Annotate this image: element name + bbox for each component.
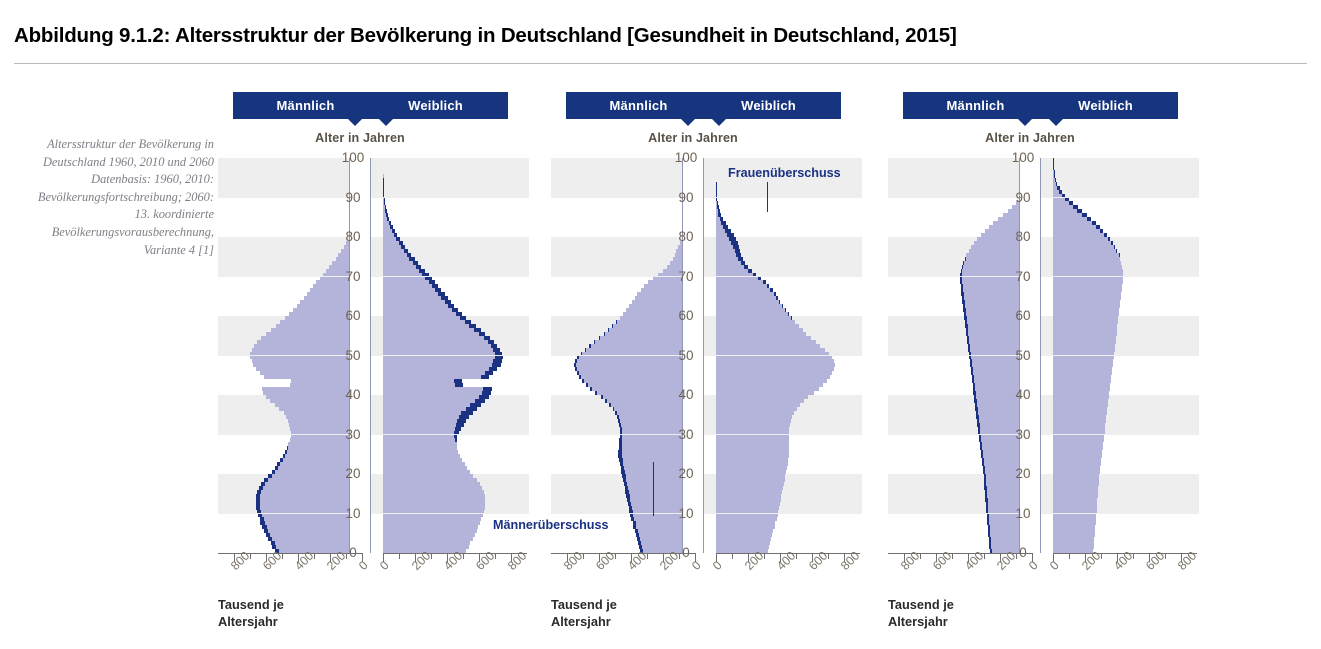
surplus-female-age-82 <box>390 225 393 229</box>
bar-female-age-57 <box>716 324 799 328</box>
unit-line-1: Tausend je <box>888 596 1048 613</box>
surplus-female-age-75 <box>407 253 412 257</box>
bar-female-age-63 <box>383 300 445 304</box>
annotation-leader-frauenueberschuss <box>767 182 768 212</box>
age-tick-20: 20 <box>668 467 704 481</box>
badge-male[interactable]: Männlich <box>903 92 1048 119</box>
surplus-male-age-13 <box>627 498 630 502</box>
surplus-male-age-66 <box>961 288 963 292</box>
bar-female-age-60 <box>1053 312 1119 316</box>
bar-female-age-64 <box>1053 296 1121 300</box>
bar-female-age-42 <box>1053 383 1110 387</box>
bar-female-age-15 <box>1053 490 1098 494</box>
age-axis-labels: 0102030405060708090100 <box>1005 158 1041 553</box>
surplus-male-age-39 <box>974 395 976 399</box>
tick-female-100 <box>399 553 400 559</box>
surplus-female-age-61 <box>452 308 458 312</box>
surplus-male-age-25 <box>981 450 983 454</box>
bar-female-age-31 <box>716 427 789 431</box>
bar-female-age-80 <box>383 233 394 237</box>
bar-female-age-37 <box>1053 403 1108 407</box>
bar-female-age-57 <box>1053 324 1117 328</box>
bar-female-age-31 <box>1053 427 1105 431</box>
pyramid-panel-2010: MännlichWeiblichAlter in Jahren010203040… <box>518 0 868 649</box>
surplus-male-age-11 <box>256 506 260 510</box>
surplus-male-age-5 <box>635 529 638 533</box>
bar-female-age-73 <box>716 261 741 265</box>
bar-female-age-55 <box>383 332 479 336</box>
surplus-female-age-81 <box>392 229 395 233</box>
surplus-female-age-76 <box>1116 249 1117 253</box>
pyramid-panel-2060: MännlichWeiblichAlter in Jahren010203040… <box>855 0 1205 649</box>
surplus-male-age-40 <box>595 391 597 395</box>
age-tick-50: 50 <box>668 349 704 363</box>
surplus-female-age-53 <box>488 340 494 344</box>
bar-female-age-23 <box>1053 458 1101 462</box>
bar-female-age-67 <box>1053 284 1122 288</box>
surplus-male-age-8 <box>260 517 264 521</box>
age-tick-10: 10 <box>668 507 704 521</box>
figure-page: Abbildung 9.1.2: Altersstruktur der Bevö… <box>0 0 1321 649</box>
surplus-male-age-58 <box>965 320 967 324</box>
bar-female-age-80 <box>716 233 727 237</box>
bar-female-age-54 <box>716 336 811 340</box>
bar-female-age-78 <box>383 241 399 245</box>
surplus-male-age-69 <box>960 277 962 281</box>
surplus-male-age-47 <box>574 363 576 367</box>
surplus-male-age-9 <box>258 514 262 518</box>
bar-female-age-71 <box>716 269 748 273</box>
age-tick-10: 10 <box>1005 507 1041 521</box>
surplus-female-age-84 <box>1087 217 1091 221</box>
bar-female-age-74 <box>716 257 738 261</box>
bar-female-age-28 <box>1053 438 1104 442</box>
surplus-male-age-72 <box>962 265 963 269</box>
surplus-male-age-14 <box>985 494 987 498</box>
surplus-male-age-19 <box>984 474 986 478</box>
bar-female-age-26 <box>1053 446 1103 450</box>
bar-female-age-56 <box>716 328 803 332</box>
bar-female-age-74 <box>383 257 409 261</box>
surplus-male-age-17 <box>984 482 986 486</box>
bars-female <box>716 158 860 553</box>
surplus-male-age-26 <box>619 446 622 450</box>
surplus-male-age-10 <box>257 510 261 514</box>
bar-female-age-68 <box>716 280 763 284</box>
bar-female-age-62 <box>383 304 448 308</box>
surplus-male-age-22 <box>620 462 624 466</box>
badge-male[interactable]: Männlich <box>566 92 711 119</box>
bar-female-age-6 <box>383 525 478 529</box>
surplus-female-age-38 <box>475 399 485 403</box>
surplus-female-age-61 <box>785 308 786 312</box>
surplus-male-age-35 <box>615 411 617 415</box>
surplus-male-age-6 <box>988 525 990 529</box>
bar-female-age-30 <box>1053 431 1105 435</box>
bar-female-age-22 <box>383 462 465 466</box>
bar-female-age-42 <box>716 383 823 387</box>
bar-female-age-53 <box>383 340 488 344</box>
surplus-female-age-83 <box>721 221 726 225</box>
surplus-male-age-51 <box>968 348 970 352</box>
value-axis-unit: Tausend jeAltersjahr <box>888 596 1048 630</box>
bar-female-age-76 <box>1053 249 1116 253</box>
bar-female-age-18 <box>383 478 477 482</box>
unit-line-2: Altersjahr <box>551 613 711 630</box>
bar-female-age-18 <box>716 478 785 482</box>
surplus-male-age-20 <box>621 470 625 474</box>
age-tick-90: 90 <box>668 191 704 205</box>
surplus-female-age-76 <box>404 249 408 253</box>
bar-female-age-75 <box>1053 253 1119 257</box>
bar-female-age-19 <box>716 474 785 478</box>
bar-female-age-43 <box>1053 379 1111 383</box>
surplus-male-age-18 <box>264 478 268 482</box>
bar-female-age-9 <box>1053 514 1096 518</box>
surplus-female-age-77 <box>1114 245 1115 249</box>
bar-female-age-20 <box>383 470 470 474</box>
bar-female-age-21 <box>1053 466 1100 470</box>
surplus-female-age-64 <box>776 296 778 300</box>
bar-female-age-52 <box>716 344 820 348</box>
bar-female-age-36 <box>1053 407 1107 411</box>
surplus-female-age-87 <box>717 205 719 209</box>
surplus-female-age-67 <box>767 284 770 288</box>
surplus-male-age-71 <box>961 269 962 273</box>
bar-female-age-72 <box>1053 265 1122 269</box>
bar-female-age-38 <box>383 399 475 403</box>
surplus-male-age-61 <box>963 308 965 312</box>
surplus-male-age-52 <box>589 344 590 348</box>
surplus-male-age-22 <box>982 462 984 466</box>
bar-female-age-53 <box>1053 340 1116 344</box>
surplus-female-age-30 <box>454 431 459 435</box>
bar-female-age-55 <box>716 332 806 336</box>
bar-female-age-54 <box>383 336 484 340</box>
surplus-female-age-90 <box>1062 194 1066 198</box>
surplus-male-age-8 <box>987 517 989 521</box>
bar-female-age-7 <box>1053 521 1096 525</box>
surplus-female-age-73 <box>413 261 418 265</box>
bar-female-age-75 <box>716 253 736 257</box>
value-label-male-0: 0 <box>1026 558 1041 573</box>
surplus-female-age-29 <box>454 435 457 439</box>
surplus-male-age-16 <box>984 486 986 490</box>
surplus-female-age-33 <box>457 419 466 423</box>
bar-female-age-61 <box>716 308 785 312</box>
bar-female-age-62 <box>716 304 782 308</box>
surplus-male-age-38 <box>974 399 976 403</box>
surplus-male-age-18 <box>623 478 626 482</box>
bar-female-age-77 <box>383 245 401 249</box>
bar-female-age-28 <box>383 438 455 442</box>
badge-female[interactable]: Weiblich <box>363 92 508 119</box>
age-tick-70: 70 <box>335 270 371 284</box>
surplus-female-age-94 <box>1055 178 1056 182</box>
age-tick-80: 80 <box>668 230 704 244</box>
badge-female[interactable]: Weiblich <box>1033 92 1178 119</box>
surplus-male-age-6 <box>262 525 267 529</box>
bar-female-age-84 <box>1053 217 1087 221</box>
bar-female-age-69 <box>1053 277 1123 281</box>
surplus-male-age-54 <box>599 336 600 340</box>
bar-female-age-29 <box>716 435 789 439</box>
surplus-male-age-43 <box>582 379 584 383</box>
age-tick-100: 100 <box>668 151 704 165</box>
age-axis-title: Alter in Jahren <box>855 131 1205 145</box>
surplus-male-age-10 <box>986 510 988 514</box>
surplus-male-age-5 <box>264 529 269 533</box>
bar-female-age-29 <box>1053 435 1104 439</box>
bar-female-age-27 <box>716 442 789 446</box>
surplus-female-age-82 <box>723 225 728 229</box>
surplus-male-age-42 <box>586 383 588 387</box>
surplus-male-age-24 <box>283 454 285 458</box>
surplus-female-age-69 <box>425 277 431 281</box>
surplus-female-age-80 <box>727 233 734 237</box>
surplus-male-age-44 <box>579 375 581 379</box>
surplus-female-age-75 <box>736 253 741 257</box>
surplus-male-age-34 <box>976 415 978 419</box>
surplus-male-age-15 <box>257 490 261 494</box>
age-axis-labels: 0102030405060708090100 <box>335 158 371 553</box>
surplus-male-age-52 <box>968 344 970 348</box>
surplus-female-age-47 <box>492 363 501 367</box>
bar-female-age-71 <box>383 269 419 273</box>
surplus-female-age-48 <box>493 359 502 363</box>
bar-female-age-54 <box>1053 336 1116 340</box>
bar-female-age-18 <box>1053 478 1099 482</box>
surplus-female-age-43 <box>454 379 462 383</box>
surplus-female-age-77 <box>401 245 405 249</box>
bar-female-age-88 <box>1053 201 1069 205</box>
bar-female-age-65 <box>383 292 438 296</box>
bar-female-age-22 <box>1053 462 1101 466</box>
surplus-male-age-2 <box>638 541 641 545</box>
age-tick-50: 50 <box>335 349 371 363</box>
surplus-female-age-36 <box>466 407 477 411</box>
surplus-male-age-31 <box>978 427 980 431</box>
bar-female-age-39 <box>716 395 808 399</box>
badge-male[interactable]: Männlich <box>233 92 378 119</box>
bar-female-age-40 <box>1053 391 1109 395</box>
bar-female-age-48 <box>383 359 493 363</box>
bar-female-age-39 <box>1053 395 1109 399</box>
bar-female-age-50 <box>1053 352 1114 356</box>
bar-female-age-1 <box>1053 545 1094 549</box>
surplus-male-age-11 <box>986 506 988 510</box>
surplus-female-age-66 <box>770 288 772 292</box>
surplus-female-age-84 <box>720 217 724 221</box>
bar-female-age-44 <box>1053 375 1111 379</box>
surplus-male-age-15 <box>985 490 987 494</box>
bar-female-age-25 <box>1053 450 1102 454</box>
badge-female[interactable]: Weiblich <box>696 92 841 119</box>
unit-line-2: Altersjahr <box>888 613 1048 630</box>
bar-female-age-8 <box>383 517 481 521</box>
surplus-male-age-34 <box>617 415 619 419</box>
surplus-female-age-40 <box>482 391 491 395</box>
bar-female-age-58 <box>716 320 795 324</box>
bar-female-age-6 <box>1053 525 1095 529</box>
surplus-female-age-83 <box>1092 221 1096 225</box>
bar-female-age-73 <box>383 261 413 265</box>
surplus-male-age-30 <box>620 431 623 435</box>
surplus-female-age-46 <box>489 367 498 371</box>
bar-female-age-71 <box>1053 269 1123 273</box>
bar-female-age-43 <box>383 379 454 383</box>
surplus-female-age-67 <box>432 284 438 288</box>
surplus-male-age-37 <box>975 403 977 407</box>
age-tick-70: 70 <box>668 270 704 284</box>
bar-female-age-29 <box>383 435 454 439</box>
bar-female-age-28 <box>716 438 789 442</box>
bar-female-age-49 <box>383 356 495 360</box>
bar-female-age-47 <box>716 363 835 367</box>
bar-female-age-20 <box>1053 470 1100 474</box>
surplus-male-age-49 <box>969 356 971 360</box>
surplus-male-age-41 <box>973 387 975 391</box>
bar-female-age-46 <box>1053 367 1112 371</box>
surplus-male-age-17 <box>624 482 627 486</box>
unit-line-1: Tausend je <box>218 596 378 613</box>
surplus-female-age-71 <box>748 269 752 273</box>
bar-female-age-11 <box>716 506 779 510</box>
bar-female-age-44 <box>383 375 481 379</box>
bar-female-age-63 <box>716 300 779 304</box>
bar-female-age-26 <box>716 446 789 450</box>
surplus-male-age-33 <box>618 419 620 423</box>
surplus-male-age-68 <box>960 280 962 284</box>
surplus-female-age-54 <box>484 336 490 340</box>
bar-female-age-13 <box>383 498 485 502</box>
surplus-female-age-89 <box>716 198 717 202</box>
bar-female-age-23 <box>383 458 462 462</box>
surplus-male-age-59 <box>964 316 966 320</box>
surplus-female-age-80 <box>394 233 398 237</box>
bar-female-age-68 <box>1053 280 1123 284</box>
surplus-male-age-45 <box>971 371 973 375</box>
bar-female-age-45 <box>383 371 485 375</box>
surplus-male-age-6 <box>633 525 636 529</box>
bar-female-age-64 <box>383 296 441 300</box>
bar-female-age-74 <box>1053 257 1120 261</box>
surplus-male-age-39 <box>601 395 603 399</box>
age-tick-70: 70 <box>1005 270 1041 284</box>
surplus-female-age-59 <box>460 316 466 320</box>
bar-female-age-51 <box>1053 348 1115 352</box>
bar-female-age-25 <box>716 450 789 454</box>
age-tick-50: 50 <box>1005 349 1041 363</box>
surplus-female-age-80 <box>1104 233 1107 237</box>
bar-female-age-5 <box>716 529 773 533</box>
age-tick-30: 30 <box>335 428 371 442</box>
surplus-male-age-22 <box>277 462 280 466</box>
bar-female-age-17 <box>383 482 480 486</box>
surplus-female-age-81 <box>725 229 731 233</box>
bar-female-age-73 <box>1053 261 1121 265</box>
surplus-female-age-92 <box>1057 186 1059 190</box>
unit-line-2: Altersjahr <box>218 613 378 630</box>
bar-female-age-35 <box>1053 411 1107 415</box>
surplus-female-age-37 <box>470 403 481 407</box>
bar-female-age-72 <box>716 265 744 269</box>
surplus-male-age-29 <box>620 435 623 439</box>
surplus-male-age-3 <box>989 537 991 541</box>
surplus-female-age-32 <box>456 423 464 427</box>
surplus-male-age-51 <box>585 348 586 352</box>
bar-female-age-79 <box>1053 237 1108 241</box>
surplus-male-age-7 <box>260 521 265 525</box>
bar-female-age-59 <box>383 316 460 320</box>
bar-female-age-39 <box>383 395 479 399</box>
bar-female-age-2 <box>716 541 770 545</box>
surplus-male-age-28 <box>979 438 981 442</box>
bar-female-age-66 <box>383 288 435 292</box>
bar-female-age-17 <box>716 482 784 486</box>
age-tick-10: 10 <box>335 507 371 521</box>
surplus-female-age-51 <box>493 348 499 352</box>
bar-female-age-78 <box>716 241 731 245</box>
bar-female-age-78 <box>1053 241 1111 245</box>
bar-female-age-42 <box>383 383 455 387</box>
bar-female-age-37 <box>716 403 800 407</box>
bar-female-age-8 <box>716 517 777 521</box>
bar-female-age-10 <box>1053 510 1097 514</box>
bar-female-age-79 <box>716 237 729 241</box>
surplus-male-age-21 <box>621 466 625 470</box>
surplus-female-age-52 <box>491 344 497 348</box>
age-tick-90: 90 <box>335 191 371 205</box>
surplus-female-age-77 <box>733 245 739 249</box>
surplus-female-age-79 <box>1108 237 1110 241</box>
surplus-female-age-71 <box>419 269 425 273</box>
surplus-male-age-47 <box>970 363 972 367</box>
surplus-female-age-63 <box>445 300 451 304</box>
bar-female-age-75 <box>383 253 407 257</box>
bar-female-age-51 <box>716 348 825 352</box>
bar-female-age-64 <box>716 296 776 300</box>
surplus-female-age-72 <box>744 265 748 269</box>
surplus-female-age-95 <box>1054 174 1055 178</box>
pyramid-panel-1960: MännlichWeiblichAlter in Jahren010203040… <box>185 0 535 649</box>
bar-female-age-82 <box>1053 225 1096 229</box>
bar-female-age-81 <box>1053 229 1100 233</box>
age-tick-90: 90 <box>1005 191 1041 205</box>
surplus-male-age-53 <box>594 340 595 344</box>
surplus-male-age-37 <box>609 403 611 407</box>
bar-female-age-27 <box>1053 442 1103 446</box>
surplus-female-age-79 <box>729 237 736 241</box>
age-tick-80: 80 <box>335 230 371 244</box>
bar-female-age-5 <box>1053 529 1095 533</box>
surplus-male-age-13 <box>256 498 260 502</box>
surplus-male-age-70 <box>960 273 962 277</box>
annotation-leader-maennerueberschuss <box>653 462 654 516</box>
surplus-female-age-93 <box>1056 182 1058 186</box>
surplus-male-age-21 <box>275 466 278 470</box>
bar-female-age-41 <box>1053 387 1110 391</box>
surplus-male-age-9 <box>630 514 633 518</box>
bar-female-age-90 <box>1053 194 1062 198</box>
bar-female-age-10 <box>716 510 778 514</box>
bar-female-age-34 <box>383 415 459 419</box>
surplus-female-age-87 <box>385 205 386 209</box>
bar-female-age-57 <box>383 324 469 328</box>
bar-female-age-52 <box>383 344 491 348</box>
age-axis-title: Alter in Jahren <box>185 131 535 145</box>
value-axis-unit: Tausend jeAltersjahr <box>551 596 711 630</box>
